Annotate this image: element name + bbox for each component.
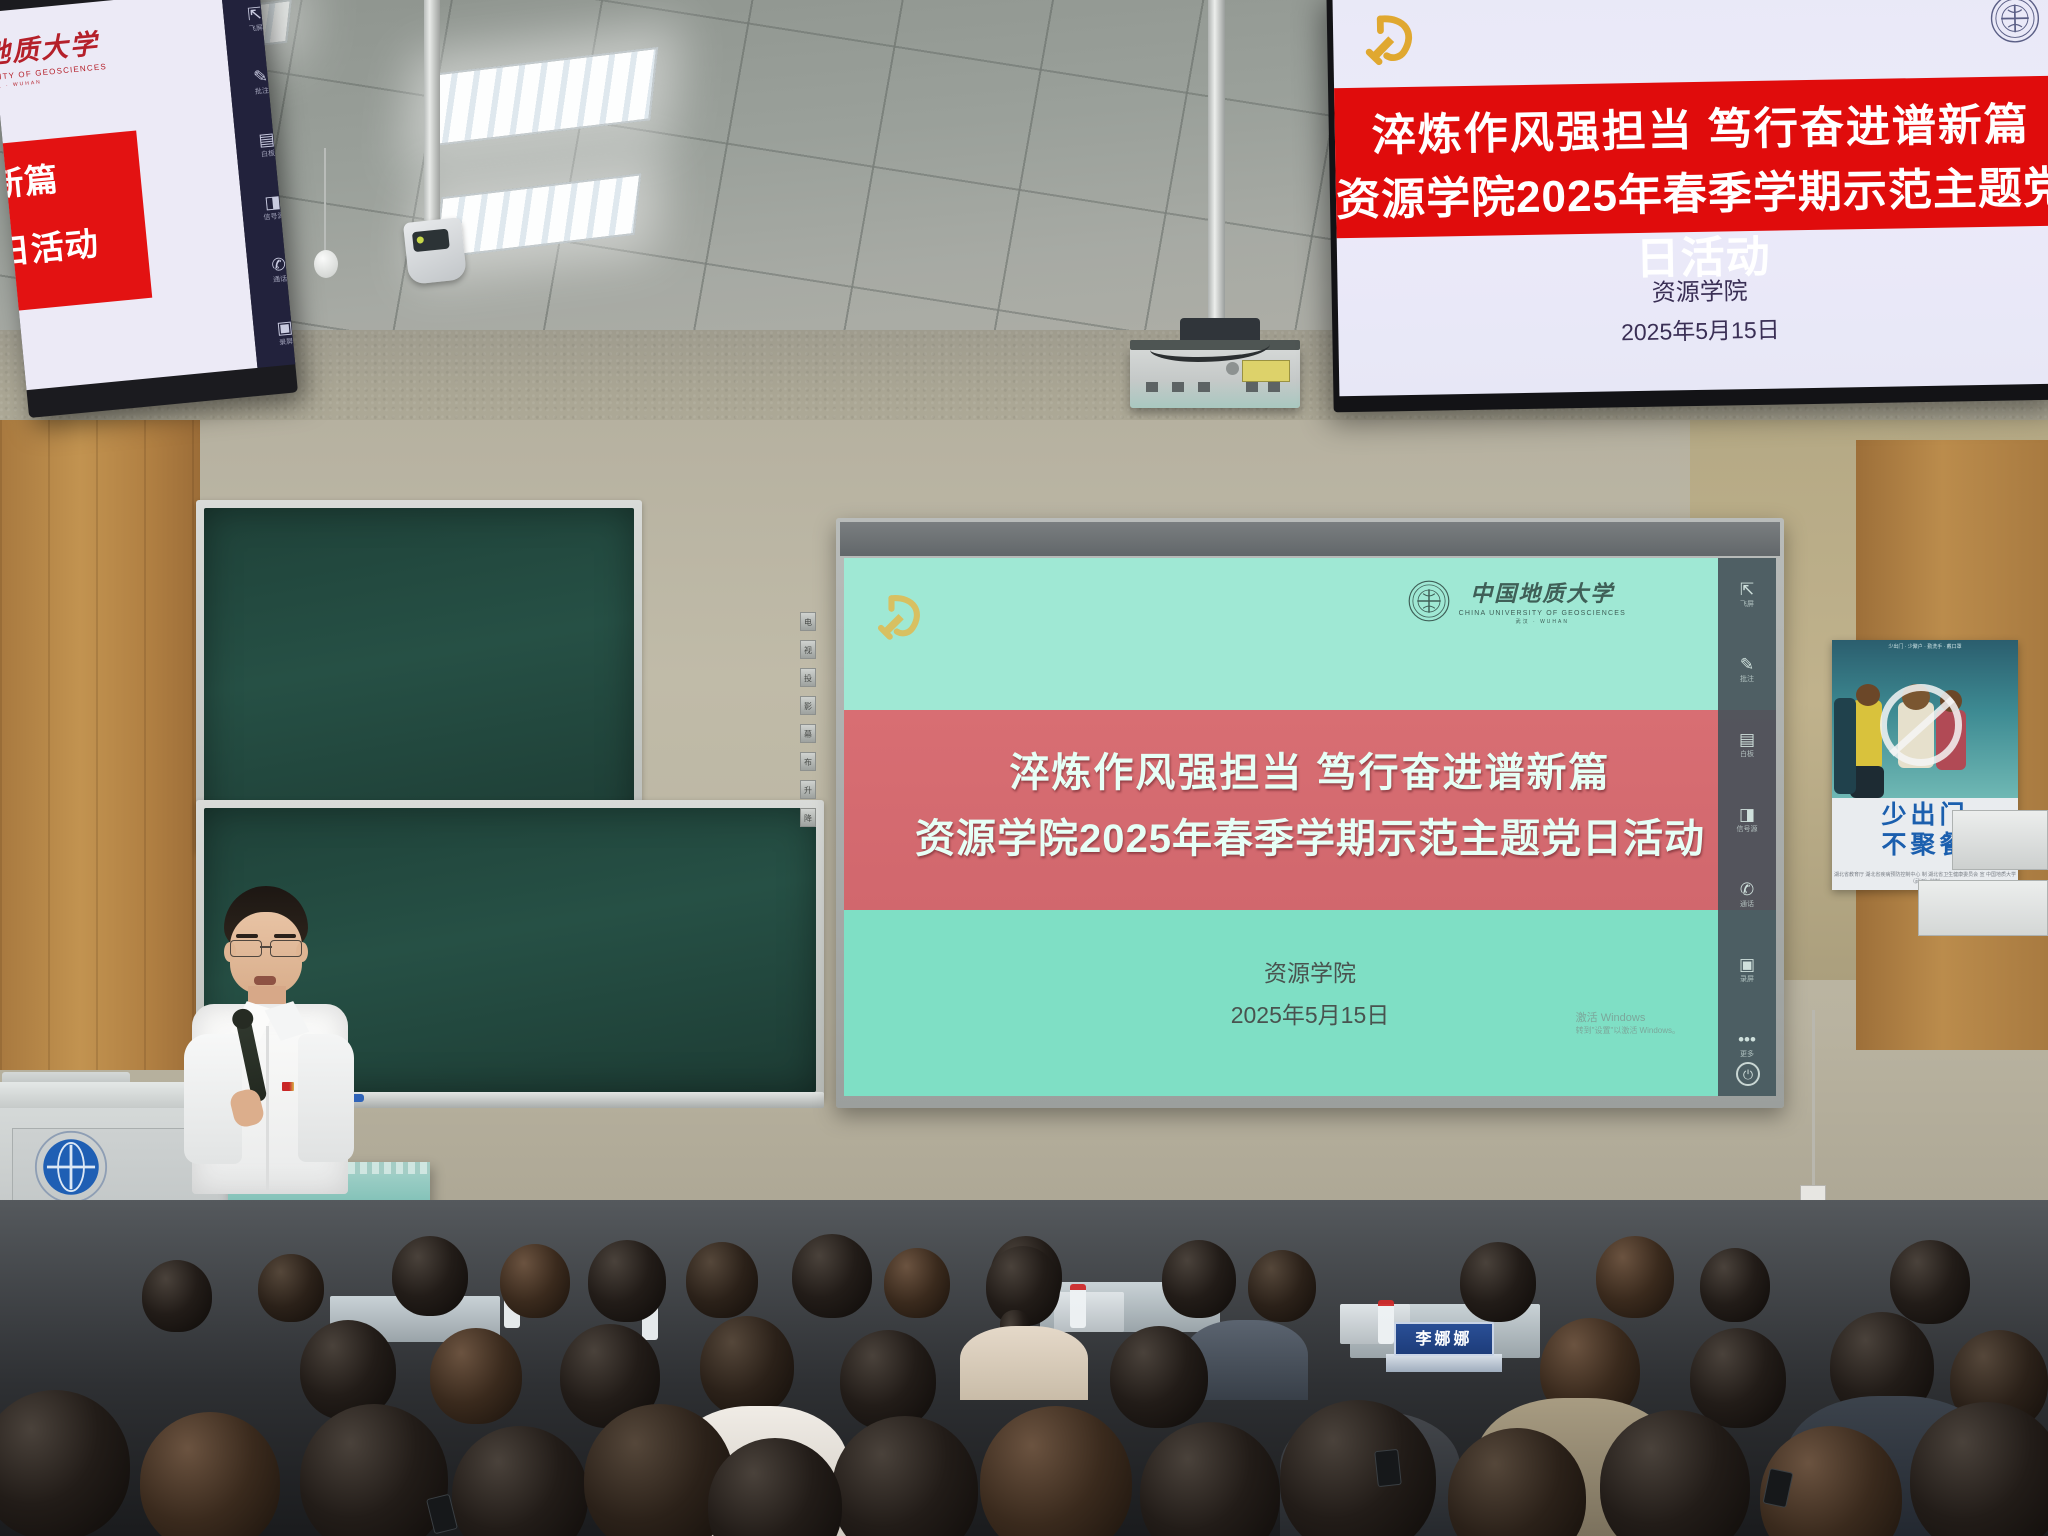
board-button[interactable]: 升 xyxy=(800,780,816,799)
board-button[interactable]: 电 xyxy=(800,612,816,631)
toolbar-item-signal-source[interactable]: ◨ 信号源 xyxy=(1718,805,1776,834)
security-camera-icon xyxy=(403,217,467,285)
poster-artwork: 少出门 · 少聚户 · 勤洗手 · 戴口罩 xyxy=(1832,640,2018,798)
toolbar-item-annotate[interactable]: ✎ 批注 xyxy=(1718,655,1776,684)
watermark-line2: 转到"设置"以激活 Windows。 xyxy=(1576,1025,1680,1036)
audience-head xyxy=(792,1234,872,1318)
audience-head xyxy=(1162,1240,1236,1318)
presenter-mouth xyxy=(254,976,276,985)
classroom-scene: 电 视 投 影 幕 布 升 降 xyxy=(0,0,2048,1536)
cug-seal-icon xyxy=(1988,0,2041,45)
tv-left-slide: 中国地质大学 CHINA UNIVERSITY OF GEOSCIENCES 武… xyxy=(0,0,257,400)
tv-left-title-band: 新篇 党日活动 xyxy=(0,130,152,319)
audience-nameplate: 李娜娜 xyxy=(1394,1322,1494,1356)
audience-head xyxy=(1690,1328,1786,1428)
projector-port-icon xyxy=(1172,382,1184,392)
presenter-eyebrow xyxy=(274,934,296,938)
whiteboard-icon: ▤ xyxy=(1718,730,1776,750)
audience-head xyxy=(430,1328,522,1424)
screen-record-icon: ▣ xyxy=(1718,955,1776,975)
audience-head xyxy=(588,1240,666,1322)
slide-organization: 资源学院 xyxy=(844,954,1776,988)
watermark-line1: 激活 Windows xyxy=(1576,1009,1680,1025)
poster-figure-icon xyxy=(1852,700,1882,770)
audience-head xyxy=(1460,1242,1536,1322)
slide-title-line2: 资源学院2025年春季学期示范主题党日活动 xyxy=(844,806,1776,864)
hanging-sensor-icon xyxy=(314,250,338,278)
tv-left-text-line2: 党日活动 xyxy=(0,212,149,282)
eyeglasses-icon xyxy=(228,940,304,955)
poster-top-caption: 少出门 · 少聚户 · 勤洗手 · 戴口罩 xyxy=(1832,644,2018,651)
slide-title-line1: 淬炼作风强担当 笃行奋进谱新篇 xyxy=(844,740,1776,798)
board-button[interactable]: 视 xyxy=(800,640,816,659)
screen-roller-casing xyxy=(840,522,1780,556)
wall-cable xyxy=(1812,1010,1815,1190)
hammer-sickle-icon xyxy=(1361,5,1424,73)
board-button[interactable]: 幕 xyxy=(800,724,816,743)
projector-port-icon xyxy=(1246,382,1258,392)
projector-port-icon xyxy=(1146,382,1158,392)
cug-name-cn: 中国地质大学 xyxy=(1459,576,1626,608)
hanging-sensor-wire xyxy=(324,148,326,256)
poster-head-icon xyxy=(1856,684,1880,706)
cug-logo xyxy=(1988,0,2041,50)
cug-seal-icon xyxy=(34,1130,108,1209)
shirt-placket xyxy=(266,1026,269,1190)
toolbar-item-whiteboard[interactable]: ▤ 白板 xyxy=(1718,730,1776,759)
blackboard-surface xyxy=(204,508,634,844)
presenter-arm xyxy=(298,1034,354,1162)
cug-logo: 中国地质大学 CHINA UNIVERSITY OF GEOSCIENCES 武… xyxy=(0,19,131,99)
hammer-sickle-icon xyxy=(874,586,930,647)
cug-campus: 武汉 · WUHAN xyxy=(1459,618,1626,625)
tv-display-left: 中国地质大学 CHINA UNIVERSITY OF GEOSCIENCES 武… xyxy=(0,0,298,418)
projection-screen: 中国地质大学 CHINA UNIVERSITY OF GEOSCIENCES 武… xyxy=(836,518,1784,1108)
tv-right-date: 2025年5月15日 xyxy=(1338,306,2048,353)
audience-head xyxy=(884,1248,950,1318)
audience-area: 李娜娜 xyxy=(0,1200,2048,1536)
projector-port-icon xyxy=(1268,382,1280,392)
phone-call-icon: ✆ xyxy=(1718,880,1776,900)
cug-seal-icon xyxy=(1407,579,1451,623)
wood-panel-left xyxy=(0,420,200,1070)
water-bottle-icon xyxy=(1378,1300,1394,1344)
audience-head xyxy=(500,1244,570,1318)
wall-vent-unit xyxy=(1918,880,2048,936)
audience-head xyxy=(840,1330,936,1430)
phone-icon xyxy=(1374,1449,1402,1487)
nameplate-base xyxy=(1386,1354,1502,1372)
audience-head xyxy=(1596,1236,1674,1318)
tv-display-right: 淬炼作风强担当 笃行奋进谱新篇 资源学院2025年春季学期示范主题党日活动 资源… xyxy=(1326,0,2048,412)
projected-slide: 中国地质大学 CHINA UNIVERSITY OF GEOSCIENCES 武… xyxy=(844,558,1776,1096)
cug-name-en: CHINA UNIVERSITY OF GEOSCIENCES xyxy=(1459,610,1626,617)
projector-pipe xyxy=(1208,0,1225,330)
projector-warning-label-icon xyxy=(1242,360,1290,382)
projector-port-icon xyxy=(1198,382,1210,392)
toolbar-item-more[interactable]: ••• 更多 xyxy=(1718,1030,1776,1059)
tv-left-text-line1: 新篇 xyxy=(0,144,142,214)
board-button[interactable]: 降 xyxy=(800,808,816,827)
display-side-toolbar[interactable]: ⇱ 飞屏 ✎ 批注 ▤ 白板 ◨ 信号源 ✆ 通话 ▣ 录屏 xyxy=(1718,558,1776,1096)
more-dots-icon: ••• xyxy=(1718,1030,1776,1050)
pen-annotate-icon: ✎ xyxy=(1718,655,1776,675)
audience-head xyxy=(700,1316,794,1416)
party-badge-icon xyxy=(282,1082,294,1091)
audience-head xyxy=(1700,1248,1770,1322)
audience-head xyxy=(1890,1240,1970,1324)
water-bottle-icon xyxy=(1070,1284,1086,1328)
board-button[interactable]: 布 xyxy=(800,752,816,771)
toolbar-item-call[interactable]: ✆ 通话 xyxy=(1718,880,1776,909)
wall-vent-unit xyxy=(1952,810,2048,870)
slide-footer-area: 资源学院 2025年5月15日 xyxy=(844,910,1776,1096)
poster-tower-icon xyxy=(1834,698,1856,794)
power-icon[interactable]: ⏻ xyxy=(1736,1062,1760,1086)
signal-source-icon: ◨ xyxy=(1718,805,1776,825)
cast-screen-icon: ⇱ xyxy=(1718,580,1776,600)
audience-head xyxy=(142,1260,212,1332)
cug-logo: 中国地质大学 CHINA UNIVERSITY OF GEOSCIENCES 武… xyxy=(1407,576,1626,625)
projector-knob-icon xyxy=(1226,362,1239,375)
wood-grain xyxy=(0,420,200,1070)
slide-title-band: 淬炼作风强担当 笃行奋进谱新篇 资源学院2025年春季学期示范主题党日活动 xyxy=(844,710,1776,910)
slide-header-area xyxy=(844,558,1776,710)
tv-right-title-band: 淬炼作风强担当 笃行奋进谱新篇 资源学院2025年春季学期示范主题党日活动 xyxy=(1332,75,2048,238)
audience-head xyxy=(1248,1250,1316,1322)
audience-head xyxy=(686,1242,758,1318)
toolbar-item-cast[interactable]: ⇱ 飞屏 xyxy=(1718,580,1776,609)
presenter xyxy=(186,886,356,1186)
audience-shoulders xyxy=(960,1326,1088,1400)
board-control-buttons[interactable]: 电 视 投 影 幕 布 升 降 xyxy=(800,612,818,836)
laptop-icon xyxy=(1054,1292,1124,1332)
tv-right-slide: 淬炼作风强担当 笃行奋进谱新篇 资源学院2025年春季学期示范主题党日活动 资源… xyxy=(1332,0,2048,396)
no-gathering-ban-icon xyxy=(1880,684,1962,766)
audience-head xyxy=(1110,1326,1208,1428)
camera-mount-pole xyxy=(424,0,440,236)
toolbar-item-record[interactable]: ▣ 录屏 xyxy=(1718,955,1776,984)
audience-head xyxy=(258,1254,324,1322)
windows-activation-watermark: 激活 Windows 转到"设置"以激活 Windows。 xyxy=(1576,1009,1680,1036)
presenter-eyebrow xyxy=(236,934,258,938)
board-button[interactable]: 投 xyxy=(800,668,816,687)
board-button[interactable]: 影 xyxy=(800,696,816,715)
audience-head xyxy=(392,1236,468,1316)
